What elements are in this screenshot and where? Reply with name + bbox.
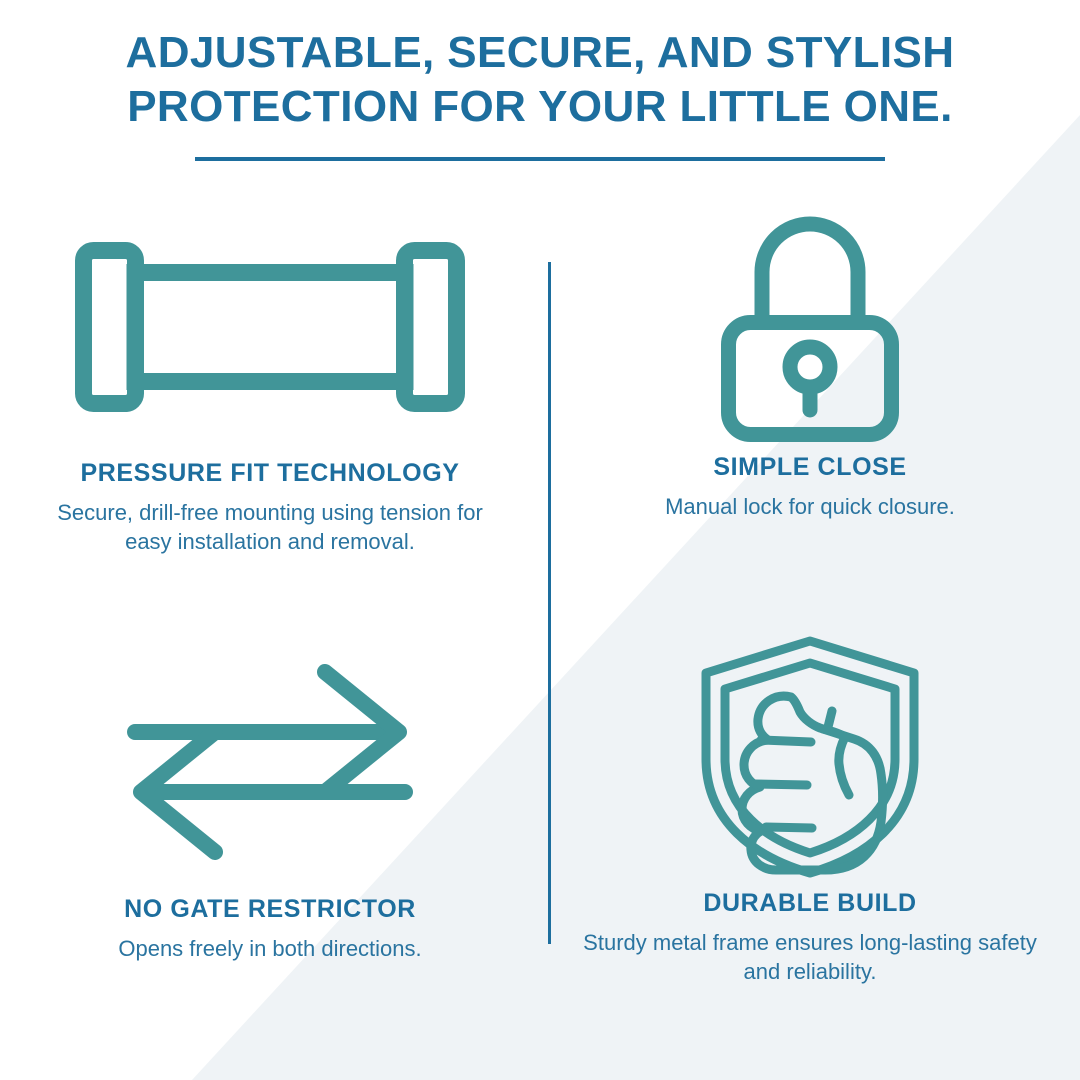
feature-title: SIMPLE CLOSE: [550, 452, 1070, 482]
column-divider: [548, 262, 551, 944]
page-title-line-2: PROTECTION FOR YOUR LITTLE ONE.: [60, 80, 1020, 134]
feature-title: PRESSURE FIT TECHNOLOGY: [10, 458, 530, 488]
page-title: ADJUSTABLE, SECURE, AND STYLISH PROTECTI…: [0, 26, 1080, 133]
shield-fist-icon: [550, 626, 1070, 888]
feature-card-durable-build: DURABLE BUILD Sturdy metal frame ensures…: [550, 626, 1070, 986]
feature-title: DURABLE BUILD: [550, 888, 1070, 918]
feature-description: Manual lock for quick closure.: [600, 492, 1020, 521]
feature-grid: PRESSURE FIT TECHNOLOGY Secure, drill-fr…: [0, 196, 1080, 1080]
feature-description: Opens freely in both directions.: [105, 934, 435, 963]
feature-card-no-gate-restrictor: NO GATE RESTRICTOR Opens freely in both …: [10, 626, 530, 963]
feature-description: Secure, drill-free mounting using tensio…: [35, 498, 505, 556]
padlock-icon: [550, 196, 1070, 452]
feature-card-pressure-fit-technology: PRESSURE FIT TECHNOLOGY Secure, drill-fr…: [10, 196, 530, 556]
header: ADJUSTABLE, SECURE, AND STYLISH PROTECTI…: [0, 26, 1080, 161]
tension-rod-icon: [10, 196, 530, 458]
page-title-line-1: ADJUSTABLE, SECURE, AND STYLISH: [60, 26, 1020, 80]
header-divider: [195, 157, 885, 161]
infographic-poster: ADJUSTABLE, SECURE, AND STYLISH PROTECTI…: [0, 0, 1080, 1080]
poster-content: ADJUSTABLE, SECURE, AND STYLISH PROTECTI…: [0, 0, 1080, 1080]
feature-card-simple-close: SIMPLE CLOSE Manual lock for quick closu…: [550, 196, 1070, 521]
two-way-arrows-icon: [10, 626, 530, 894]
feature-title: NO GATE RESTRICTOR: [10, 894, 530, 924]
feature-description: Sturdy metal frame ensures long-lasting …: [575, 928, 1045, 986]
